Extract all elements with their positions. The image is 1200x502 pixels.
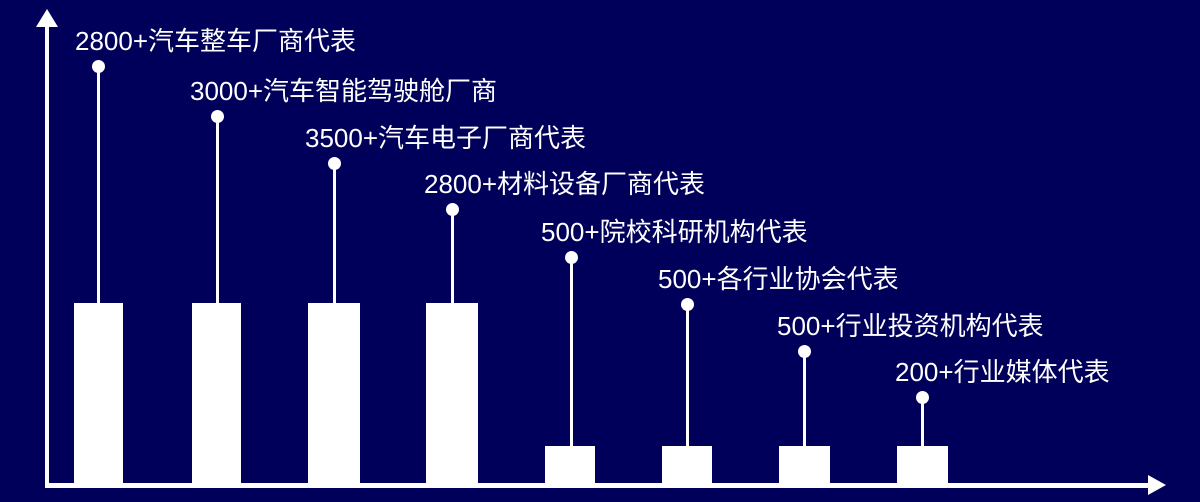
data-label-4: 2800+材料设备厂商代表 — [424, 169, 705, 199]
bar-8 — [897, 446, 948, 484]
x-axis-arrow-icon — [1148, 475, 1166, 495]
leader-line-7 — [803, 357, 806, 447]
data-label-5: 500+院校科研机构代表 — [541, 217, 808, 247]
data-label-2: 3000+汽车智能驾驶舱厂商 — [190, 76, 497, 106]
bar-1 — [74, 303, 123, 484]
bar-2 — [192, 303, 241, 484]
leader-dot-4 — [446, 203, 459, 216]
leader-line-6 — [686, 310, 689, 447]
bar-4 — [426, 303, 478, 484]
data-label-8: 200+行业媒体代表 — [895, 357, 1110, 387]
leader-line-5 — [570, 263, 573, 447]
y-axis-arrow-icon — [36, 9, 58, 27]
leader-dot-3 — [328, 157, 341, 170]
leader-line-8 — [921, 403, 924, 447]
leader-dot-7 — [798, 345, 811, 358]
bar-3 — [308, 303, 360, 484]
leader-dot-8 — [916, 391, 929, 404]
bar-6 — [662, 446, 712, 484]
leader-line-1 — [97, 72, 100, 304]
leader-line-3 — [333, 169, 336, 304]
data-label-3: 3500+汽车电子厂商代表 — [305, 123, 586, 153]
leader-dot-6 — [681, 298, 694, 311]
leader-dot-1 — [92, 60, 105, 73]
bar-chart-infographic: 2800+汽车整车厂商代表 3000+汽车智能驾驶舱厂商 3500+汽车电子厂商… — [0, 0, 1200, 502]
leader-dot-2 — [211, 110, 224, 123]
data-label-6: 500+各行业协会代表 — [658, 264, 899, 294]
data-label-7: 500+行业投资机构代表 — [777, 311, 1044, 341]
leader-line-2 — [216, 122, 219, 304]
leader-line-4 — [451, 215, 454, 304]
bar-5 — [545, 446, 595, 484]
data-label-1: 2800+汽车整车厂商代表 — [75, 26, 356, 56]
leader-dot-5 — [565, 251, 578, 264]
y-axis-line — [45, 24, 49, 487]
bar-7 — [779, 446, 830, 484]
